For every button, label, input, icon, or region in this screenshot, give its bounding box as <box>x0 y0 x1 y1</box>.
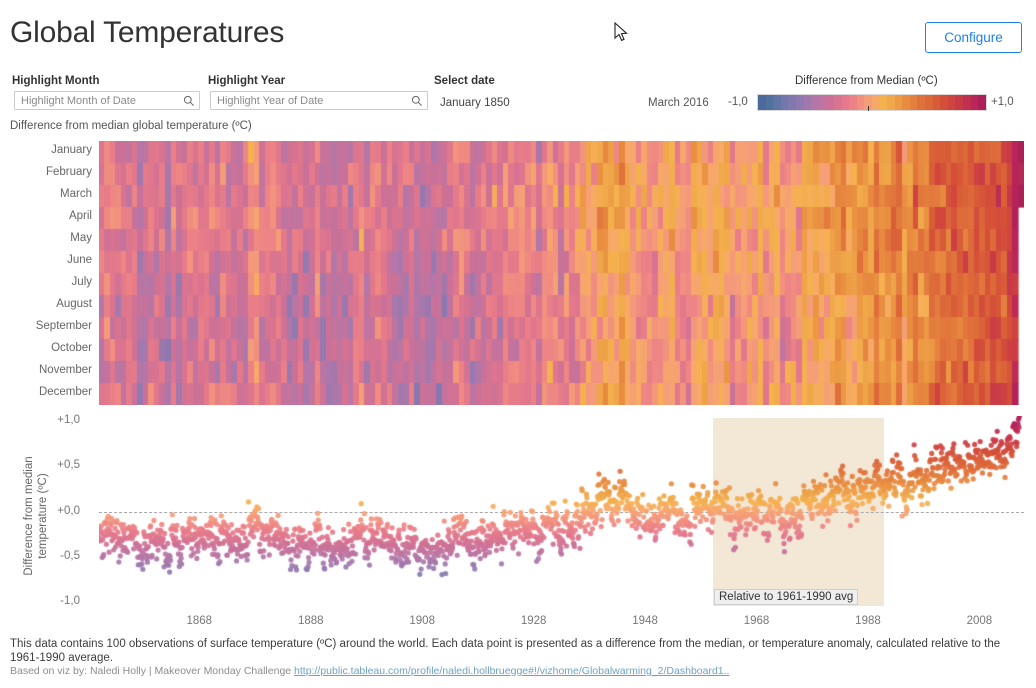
reference-period-annotation: Relative to 1961-1990 avg <box>714 589 858 605</box>
footer-note: This data contains 100 observations of s… <box>10 637 1026 665</box>
footer-credit: Based on viz by: Naledi Holly | Makeover… <box>10 665 1026 678</box>
legend-swatch <box>978 95 986 110</box>
legend-tick-marker <box>868 106 869 111</box>
legend-swatch <box>933 95 941 110</box>
legend-swatch <box>971 95 979 110</box>
legend-color-bar[interactable] <box>757 94 987 111</box>
legend-swatch <box>788 95 796 110</box>
legend-swatch <box>804 95 812 110</box>
legend-swatch <box>917 95 925 110</box>
scatter-x-tick-label: 1868 <box>174 615 224 627</box>
heatmap-month-label: April <box>0 210 92 222</box>
scatter-y-tick-label: -0,5 <box>38 550 80 562</box>
heatmap-month-label: March <box>0 188 92 200</box>
heatmap-month-label: November <box>0 364 92 376</box>
heatmap-caption: Difference from median global temperatur… <box>10 120 252 132</box>
configure-button[interactable]: Configure <box>925 22 1022 53</box>
heatmap-month-label: December <box>0 386 92 398</box>
heatmap-month-label: May <box>0 232 92 244</box>
scatter-y-tick-label: +1,0 <box>38 414 80 426</box>
select-date-end[interactable]: March 2016 <box>648 97 709 109</box>
legend-swatch <box>895 95 903 110</box>
search-icon <box>411 95 423 107</box>
legend-swatch <box>758 95 766 110</box>
highlight-year-input[interactable] <box>215 92 407 109</box>
legend-swatch <box>948 95 956 110</box>
heatmap-month-label: August <box>0 298 92 310</box>
scatter-plot[interactable] <box>99 416 1024 612</box>
legend-swatch <box>781 95 789 110</box>
dashboard-root: Global Temperatures Configure Highlight … <box>0 0 1036 688</box>
legend-swatch <box>910 95 918 110</box>
highlight-month-label: Highlight Month <box>12 75 100 87</box>
legend-swatch <box>902 95 910 110</box>
heatmap-plot[interactable] <box>99 141 1024 405</box>
legend-swatch <box>963 95 971 110</box>
source-link[interactable]: http://public.tableau.com/profile/naledi… <box>294 665 729 677</box>
legend-max-label: +1,0 <box>991 96 1014 108</box>
highlight-month-field[interactable] <box>14 91 200 110</box>
scatter-x-tick-label: 2008 <box>954 615 1004 627</box>
scatter-x-tick-label: 1908 <box>397 615 447 627</box>
legend-swatch <box>857 95 865 110</box>
scatter-y-tick-label: -1,0 <box>38 595 80 607</box>
scatter-x-tick-label: 1948 <box>620 615 670 627</box>
legend-swatch <box>925 95 933 110</box>
heatmap-month-label: February <box>0 166 92 178</box>
mouse-cursor-icon <box>614 22 628 42</box>
highlight-year-label: Highlight Year <box>208 75 285 87</box>
search-icon <box>183 95 195 107</box>
page-title: Global Temperatures <box>10 16 284 50</box>
legend-swatch <box>773 95 781 110</box>
legend-swatch <box>819 95 827 110</box>
legend-swatch <box>766 95 774 110</box>
scatter-x-tick-label: 1928 <box>509 615 559 627</box>
scatter-y-tick-label: +0,5 <box>38 459 80 471</box>
legend-swatch <box>842 95 850 110</box>
legend-swatch <box>880 95 888 110</box>
legend-swatch <box>955 95 963 110</box>
select-date-label: Select date <box>434 75 495 87</box>
legend-swatch <box>940 95 948 110</box>
highlight-year-field[interactable] <box>210 91 428 110</box>
scatter-y-tick-label: +0,0 <box>38 505 80 517</box>
heatmap-month-label: October <box>0 342 92 354</box>
heatmap-month-label: July <box>0 276 92 288</box>
legend-swatch <box>887 95 895 110</box>
legend-title: Difference from Median (ºC) <box>795 75 938 87</box>
scatter-x-tick-label: 1968 <box>732 615 782 627</box>
legend-swatch <box>796 95 804 110</box>
footer-credit-prefix: Based on viz by: Naledi Holly | Makeover… <box>10 665 294 677</box>
legend-swatch <box>811 95 819 110</box>
scatter-x-tick-label: 1988 <box>843 615 893 627</box>
legend-swatch <box>849 95 857 110</box>
scatter-x-tick-label: 1888 <box>286 615 336 627</box>
heatmap-month-label: June <box>0 254 92 266</box>
legend-swatch <box>872 95 880 110</box>
select-date-start[interactable]: January 1850 <box>440 97 510 109</box>
heatmap-month-label: January <box>0 144 92 156</box>
legend-swatch <box>834 95 842 110</box>
heatmap-month-label: September <box>0 320 92 332</box>
legend-swatch <box>826 95 834 110</box>
highlight-month-input[interactable] <box>19 92 179 109</box>
legend-min-label: -1,0 <box>728 96 748 108</box>
